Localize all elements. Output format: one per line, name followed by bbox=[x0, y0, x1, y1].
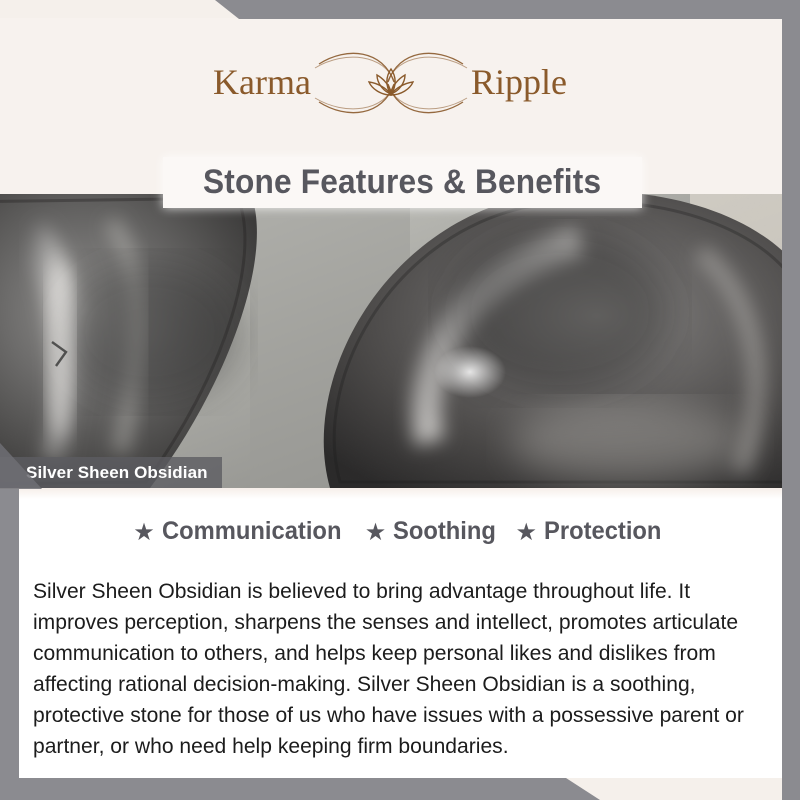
star-icon: ★ bbox=[516, 521, 538, 545]
lotus-flower-icon bbox=[369, 69, 413, 95]
card-header: Karma Ripple Stone Features & Benefits bbox=[0, 18, 782, 194]
content-panel: ★ Communication ★ Soothing ★ Protection … bbox=[19, 488, 782, 778]
stone-name-label: Silver Sheen Obsidian bbox=[26, 463, 208, 483]
brand-word-left: Karma bbox=[213, 62, 311, 102]
decor-corner-top-right bbox=[0, 0, 800, 19]
benefits-keywords: ★ Communication ★ Soothing ★ Protection bbox=[19, 517, 782, 546]
benefit-item-communication: ★ Communication bbox=[133, 517, 350, 546]
star-icon: ★ bbox=[133, 521, 155, 545]
stone-description: Silver Sheen Obsidian is believed to bri… bbox=[33, 576, 758, 762]
decor-border-right bbox=[782, 0, 800, 800]
section-title-banner: Stone Features & Benefits bbox=[163, 157, 642, 208]
brand-logo: Karma Ripple bbox=[0, 42, 782, 124]
benefit-label: Communication bbox=[162, 517, 341, 546]
karma-ripple-logo-svg: Karma Ripple bbox=[211, 42, 571, 124]
panel-top-fade bbox=[19, 488, 782, 499]
decor-border-bottom bbox=[0, 778, 800, 800]
product-info-card: Karma Ripple Stone Features & Benefits bbox=[0, 0, 800, 800]
brand-word-right: Ripple bbox=[471, 62, 567, 102]
benefit-item-protection: ★ Protection bbox=[516, 517, 668, 546]
star-icon: ★ bbox=[365, 521, 387, 545]
stone-photo: Silver Sheen Obsidian bbox=[0, 192, 782, 488]
decor-border-left bbox=[0, 489, 19, 778]
stone-photo-illustration bbox=[0, 192, 782, 488]
benefit-label: Soothing bbox=[393, 517, 496, 546]
benefit-item-soothing: ★ Soothing bbox=[365, 517, 502, 546]
benefit-label: Protection bbox=[544, 517, 661, 546]
page-title: Stone Features & Benefits bbox=[203, 163, 601, 202]
